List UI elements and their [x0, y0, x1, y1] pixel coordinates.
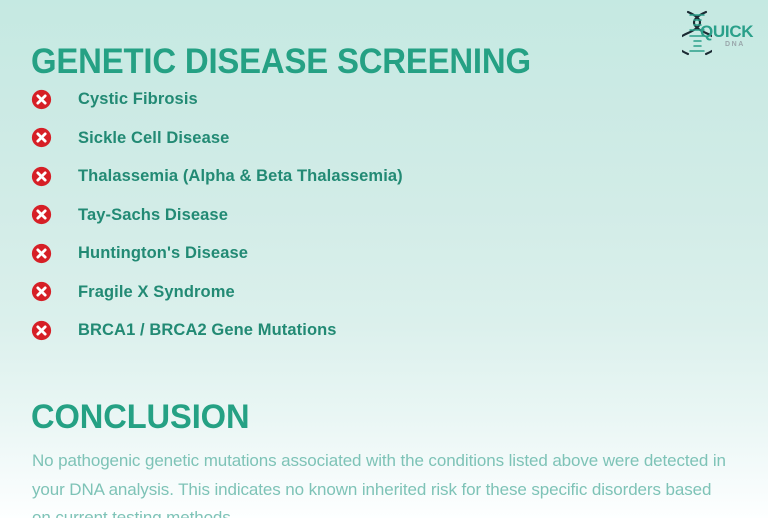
logo-subtext: DNA: [725, 41, 745, 48]
list-item-label: Thalassemia (Alpha & Beta Thalassemia): [78, 166, 403, 186]
list-item: Tay-Sachs Disease: [31, 196, 731, 235]
list-item: Fragile X Syndrome: [31, 273, 731, 312]
x-circle-icon: [31, 166, 52, 187]
x-circle-icon: [31, 281, 52, 302]
list-item-label: BRCA1 / BRCA2 Gene Mutations: [78, 320, 337, 340]
disease-list: Cystic Fibrosis Sickle Cell Disease: [31, 80, 731, 350]
list-item: Cystic Fibrosis: [31, 80, 731, 119]
x-circle-icon: [31, 320, 52, 341]
list-item-label: Tay-Sachs Disease: [78, 205, 228, 225]
list-item: Huntington's Disease: [31, 234, 731, 273]
x-circle-icon: [31, 204, 52, 225]
list-item-label: Sickle Cell Disease: [78, 128, 229, 148]
x-circle-icon: [31, 243, 52, 264]
list-item: Sickle Cell Disease: [31, 119, 731, 158]
list-item: BRCA1 / BRCA2 Gene Mutations: [31, 311, 731, 350]
x-circle-icon: [31, 127, 52, 148]
list-item-label: Fragile X Syndrome: [78, 282, 235, 302]
list-item: Thalassemia (Alpha & Beta Thalassemia): [31, 157, 731, 196]
x-circle-icon: [31, 89, 52, 110]
genetic-screening-report-page: QUICK DNA GENETIC DISEASE SCREENING Cyst…: [0, 0, 768, 518]
conclusion-heading: CONCLUSION: [31, 397, 249, 437]
conclusion-body-text: No pathogenic genetic mutations associat…: [32, 447, 732, 518]
page-title: GENETIC DISEASE SCREENING: [31, 42, 531, 82]
quick-dna-logo: QUICK DNA: [682, 10, 754, 62]
list-item-label: Cystic Fibrosis: [78, 89, 198, 109]
list-item-label: Huntington's Disease: [78, 243, 248, 263]
logo-wordmark: QUICK: [700, 23, 753, 40]
